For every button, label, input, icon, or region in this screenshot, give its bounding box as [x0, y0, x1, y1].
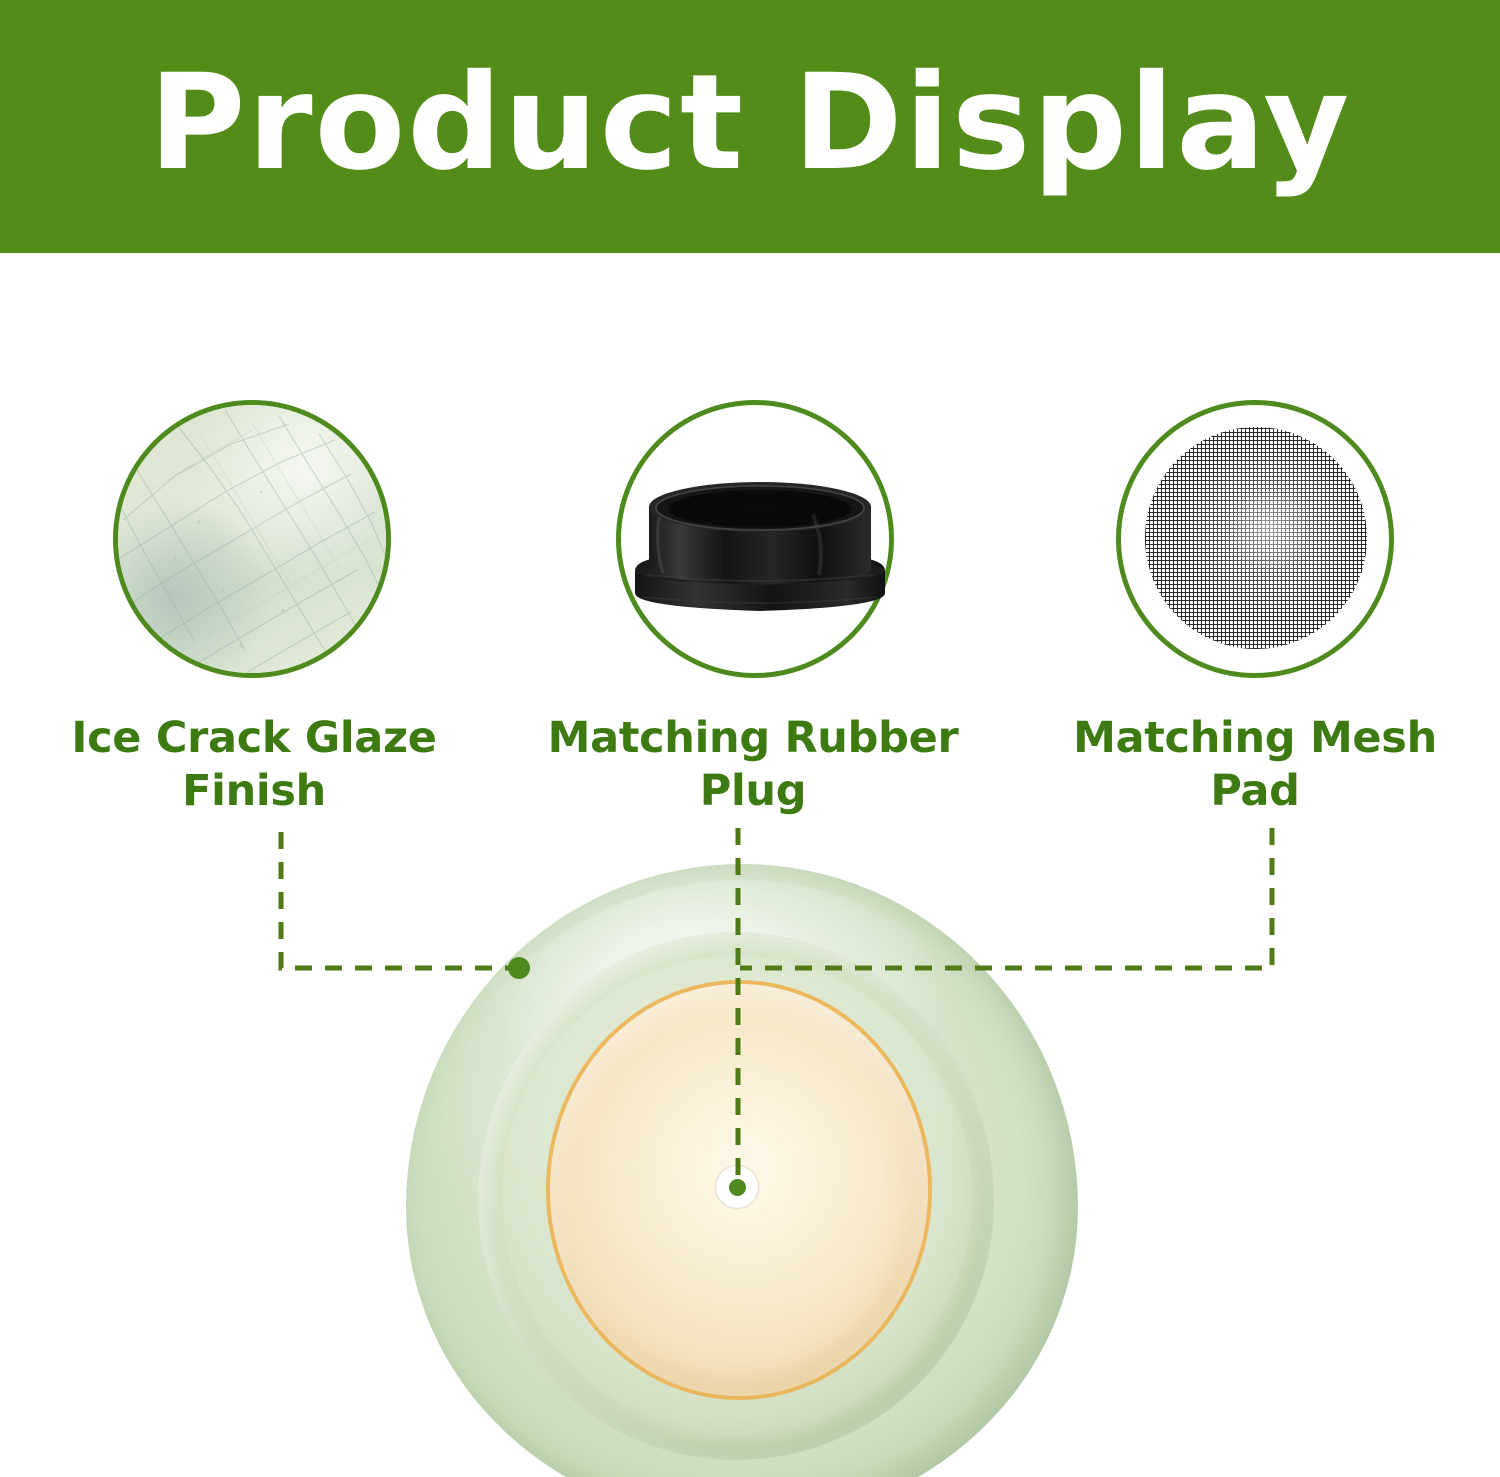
- crackle-lines-icon: [113, 400, 391, 678]
- rubber-plug-icon: [613, 473, 907, 623]
- callout-endpoint-plug: [716, 1166, 758, 1208]
- feature-label-line2: Pad: [1040, 765, 1470, 818]
- page-title: Product Display: [149, 57, 1351, 197]
- feature-label-mesh-pad: Matching Mesh Pad: [1040, 712, 1470, 819]
- feature-label-line2: Plug: [538, 765, 968, 818]
- feature-label-rubber-plug: Matching Rubber Plug: [538, 712, 968, 819]
- feature-circle-mesh-pad: [1116, 400, 1394, 678]
- mesh-screen-icon: [1145, 427, 1367, 649]
- feature-circle-ice-crack-glaze: [113, 400, 391, 678]
- feature-label-line1: Matching Rubber: [538, 712, 968, 765]
- feature-label-ice-crack-glaze: Ice Crack Glaze Finish: [44, 712, 464, 819]
- feature-label-line1: Ice Crack Glaze: [44, 712, 464, 765]
- feature-label-line2: Finish: [44, 765, 464, 818]
- product-display-infographic: Product Display: [0, 0, 1500, 1477]
- header-banner: Product Display: [0, 0, 1500, 253]
- feature-circle-rubber-plug: [616, 400, 894, 678]
- feature-label-line1: Matching Mesh: [1040, 712, 1470, 765]
- callout-dot: [729, 1179, 746, 1196]
- product-image-ceramic-bowl: [398, 858, 1088, 1477]
